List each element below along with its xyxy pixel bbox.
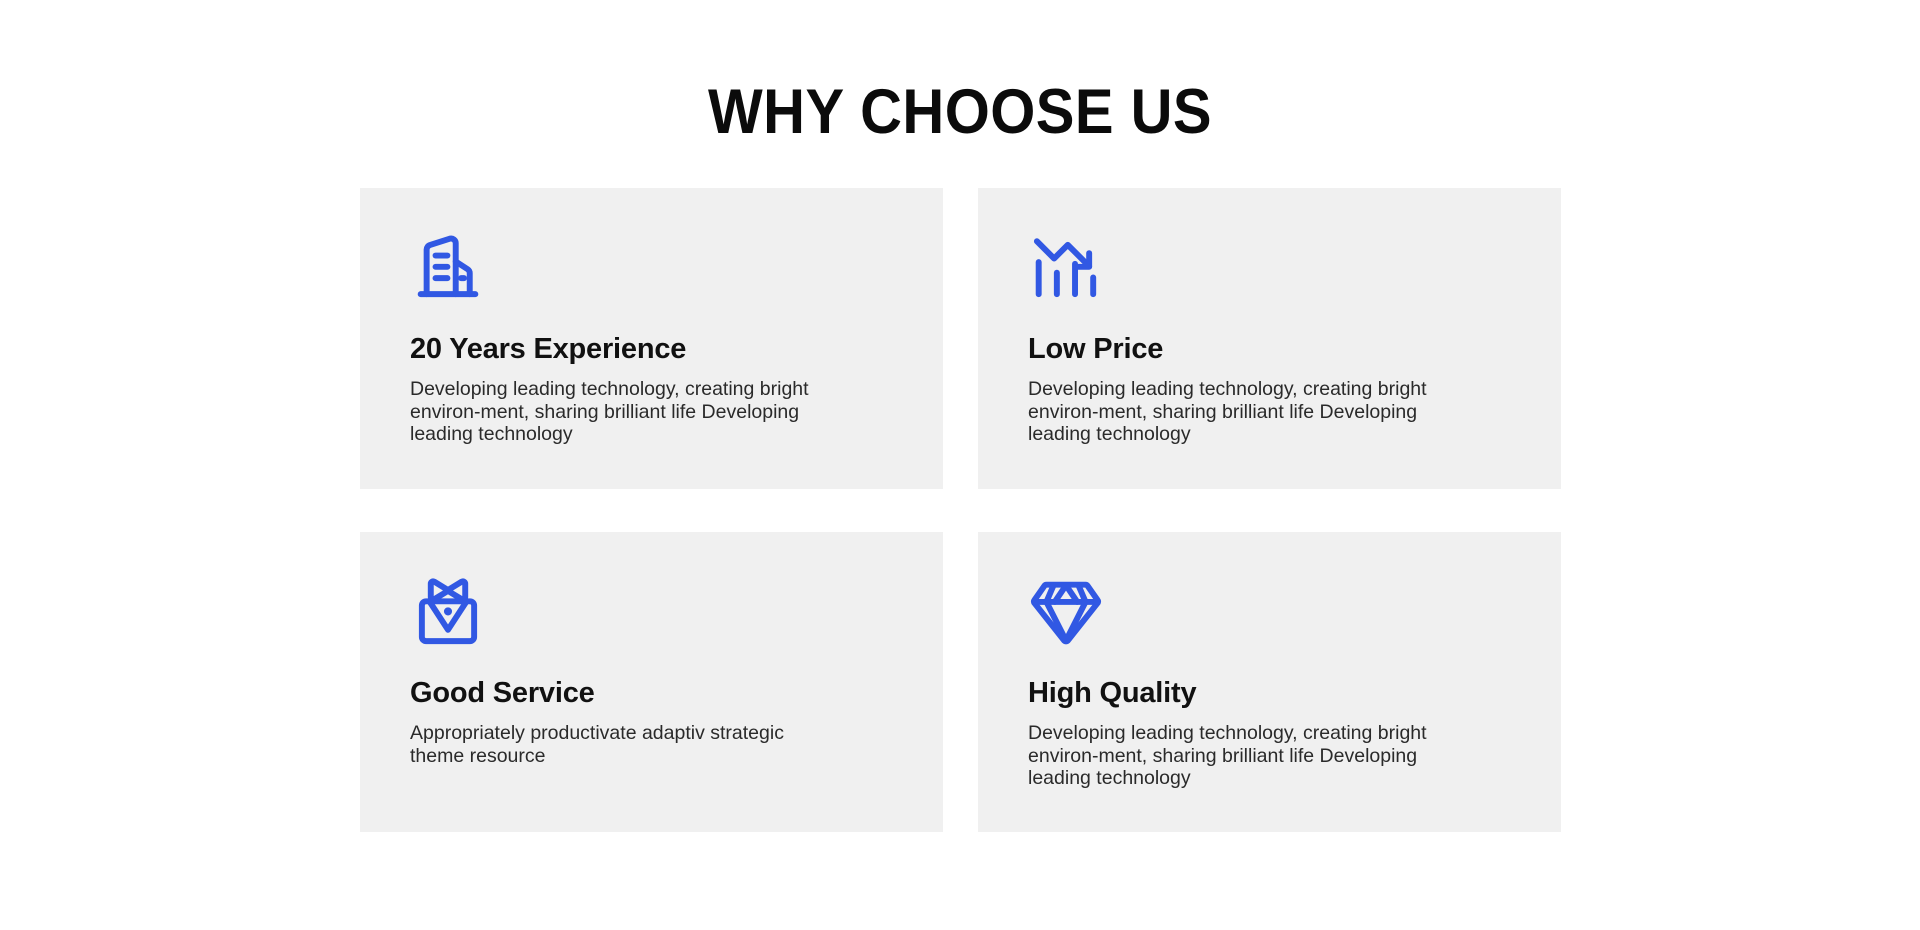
card-title: Low Price (1028, 332, 1163, 366)
card-description: Developing leading technology, creating … (410, 378, 830, 446)
page-title: WHY CHOOSE US (77, 78, 1843, 146)
feature-card-high-quality[interactable]: High Quality Developing leading technolo… (978, 532, 1561, 832)
card-title: 20 Years Experience (410, 332, 686, 366)
card-description: Appropriately productivate adaptiv strat… (410, 722, 830, 767)
feature-card-low-price[interactable]: Low Price Developing leading technology,… (978, 188, 1561, 489)
office-building-icon (410, 230, 486, 306)
card-title: Good Service (410, 676, 595, 710)
feature-card-experience[interactable]: 20 Years Experience Developing leading t… (360, 188, 943, 489)
feature-card-grid: 20 Years Experience Developing leading t… (360, 188, 1561, 832)
declining-bar-chart-icon (1028, 230, 1104, 306)
card-description: Developing leading technology, creating … (1028, 378, 1448, 446)
feature-card-good-service[interactable]: Good Service Appropriately productivate … (360, 532, 943, 832)
diamond-gem-icon (1028, 574, 1104, 650)
card-description: Developing leading technology, creating … (1028, 722, 1448, 790)
card-title: High Quality (1028, 676, 1196, 710)
why-choose-us-section: WHY CHOOSE US 20 Years Experience Develo… (0, 0, 1920, 930)
tuxedo-bowtie-icon (410, 574, 486, 650)
